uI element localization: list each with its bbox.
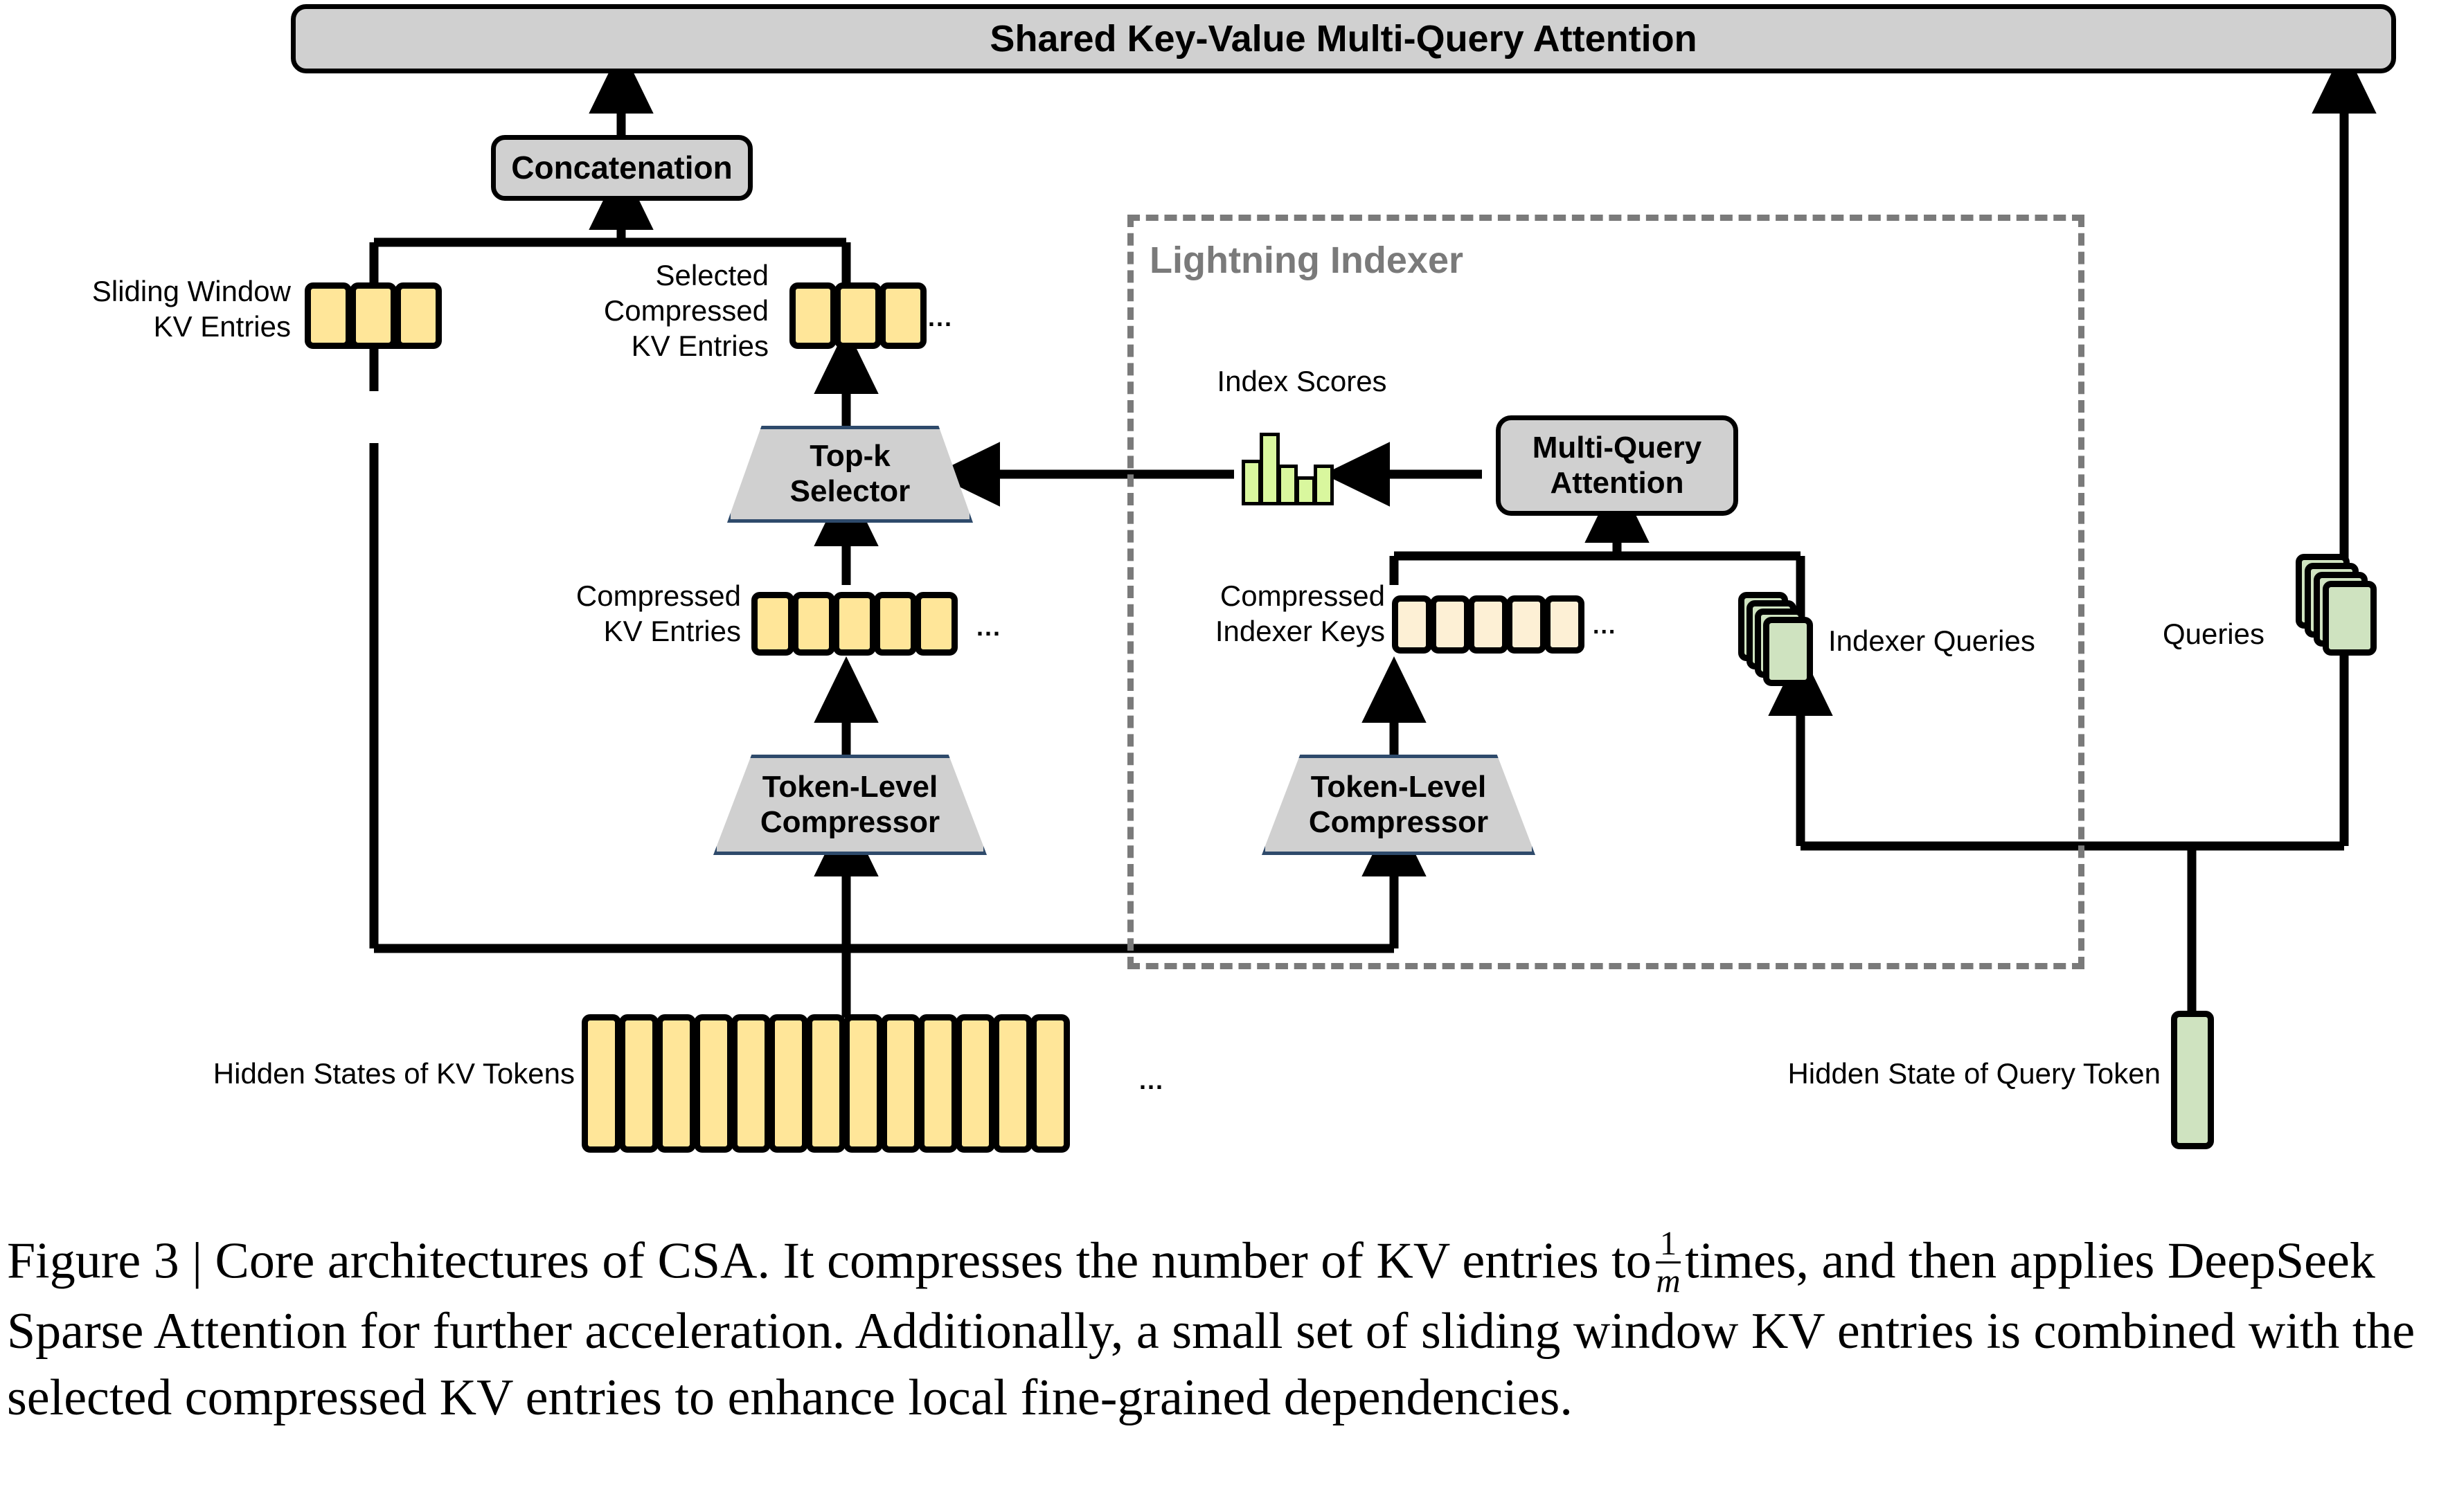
token-level-compressor-right-block[interactable]: Token-Level Compressor (1262, 755, 1528, 848)
kv-card (874, 592, 917, 656)
hidden-state-bar (619, 1014, 659, 1153)
token-level-compressor-left-block[interactable]: Token-Level Compressor (713, 755, 980, 848)
kv-card (792, 592, 835, 656)
token-level-compressor-right-label: Token-Level Compressor (1309, 770, 1488, 840)
shared-attention-label: Shared Key-Value Multi-Query Attention (990, 17, 1697, 60)
lightning-indexer-label: Lightning Indexer (1150, 239, 1463, 282)
hidden-state-bar (918, 1014, 958, 1153)
index-score-bar (1314, 465, 1334, 505)
kv-card (305, 282, 352, 349)
concatenation-block[interactable]: Concatenation (491, 135, 753, 201)
indexer-key-card (1506, 595, 1546, 654)
index-scores-chart (1242, 433, 1332, 505)
compressed-kv-cards (751, 592, 956, 656)
multi-query-attention-block[interactable]: Multi-Query Attention (1496, 415, 1738, 516)
multi-query-attention-label: Multi-Query Attention (1533, 431, 1701, 501)
queries-stack (2296, 554, 2393, 658)
index-scores-label: Index Scores (1163, 363, 1440, 399)
hidden-state-bar (881, 1014, 920, 1153)
concatenation-label: Concatenation (511, 150, 732, 186)
compressed-kv-label: Compressed KV Entries (478, 578, 741, 649)
hidden-state-bar (731, 1014, 771, 1153)
selected-compressed-kv-cards (789, 282, 924, 349)
kv-card (879, 282, 927, 349)
kv-card (395, 282, 442, 349)
index-score-bar (1296, 476, 1316, 505)
hidden-state-bar (1030, 1014, 1070, 1153)
kv-card (789, 282, 837, 349)
hidden-states-kv-tokens-ellipsis: ... (1139, 1066, 1164, 1095)
index-scores-ellipsis: ... (1349, 465, 1373, 492)
hidden-states-kv-tokens-label: Hidden States of KV Tokens (69, 1056, 575, 1091)
compression-fraction: 1m (1656, 1227, 1681, 1298)
figure-caption: Figure 3 | Core architectures of CSA. It… (7, 1227, 2431, 1431)
compressed-kv-ellipsis: ... (976, 613, 1001, 642)
shared-attention-block[interactable]: Shared Key-Value Multi-Query Attention (291, 4, 2396, 73)
hidden-state-bar (582, 1014, 621, 1153)
hidden-state-bar (694, 1014, 733, 1153)
indexer-query-card (1763, 617, 1813, 686)
hidden-state-bar (769, 1014, 808, 1153)
kv-card (915, 592, 958, 656)
hidden-state-query-token-bar (2171, 1011, 2214, 1149)
queries-label: Queries (2022, 616, 2264, 651)
index-score-bar (1278, 465, 1298, 505)
hidden-states-kv-tokens-bars (582, 1014, 1068, 1153)
topk-selector-label: Top-k Selector (790, 439, 911, 509)
compressed-indexer-keys-label: Compressed Indexer Keys (1150, 578, 1385, 649)
kv-card (350, 282, 397, 349)
fraction-numerator: 1 (1656, 1227, 1681, 1263)
caption-text-part1: Core architectures of CSA. It compresses… (215, 1232, 1652, 1289)
compressed-indexer-keys-ellipsis: ... (1593, 613, 1616, 640)
indexer-key-card (1392, 595, 1432, 654)
figure-number: Figure 3 (7, 1232, 179, 1289)
hidden-state-bar (843, 1014, 883, 1153)
figure-canvas: Shared Key-Value Multi-Query Attention C… (0, 0, 2439, 1512)
compressed-indexer-keys-cards (1392, 595, 1582, 654)
hidden-state-query-token-label: Hidden State of Query Token (1648, 1056, 2161, 1091)
indexer-key-card (1544, 595, 1584, 654)
query-card (2323, 581, 2377, 656)
indexer-queries-stack (1738, 592, 1828, 685)
kv-card (834, 282, 882, 349)
kv-card (833, 592, 876, 656)
index-score-bar (1260, 433, 1280, 505)
selected-compressed-kv-ellipsis: ... (928, 303, 953, 332)
hidden-state-bar (656, 1014, 696, 1153)
hidden-state-bar (806, 1014, 846, 1153)
index-score-bar (1242, 460, 1262, 505)
selected-compressed-kv-label: Selected Compressed KV Entries (485, 258, 769, 364)
fraction-denominator: m (1656, 1263, 1681, 1298)
token-level-compressor-left-label: Token-Level Compressor (760, 770, 940, 840)
topk-selector-block[interactable]: Top-k Selector (727, 426, 966, 516)
indexer-key-card (1430, 595, 1470, 654)
sliding-window-kv-label: Sliding Window KV Entries (21, 273, 291, 344)
figure-separator: | (192, 1232, 202, 1289)
kv-card (751, 592, 794, 656)
indexer-key-card (1468, 595, 1508, 654)
hidden-state-bar (956, 1014, 995, 1153)
sliding-window-kv-cards (305, 282, 440, 349)
hidden-state-bar (993, 1014, 1033, 1153)
